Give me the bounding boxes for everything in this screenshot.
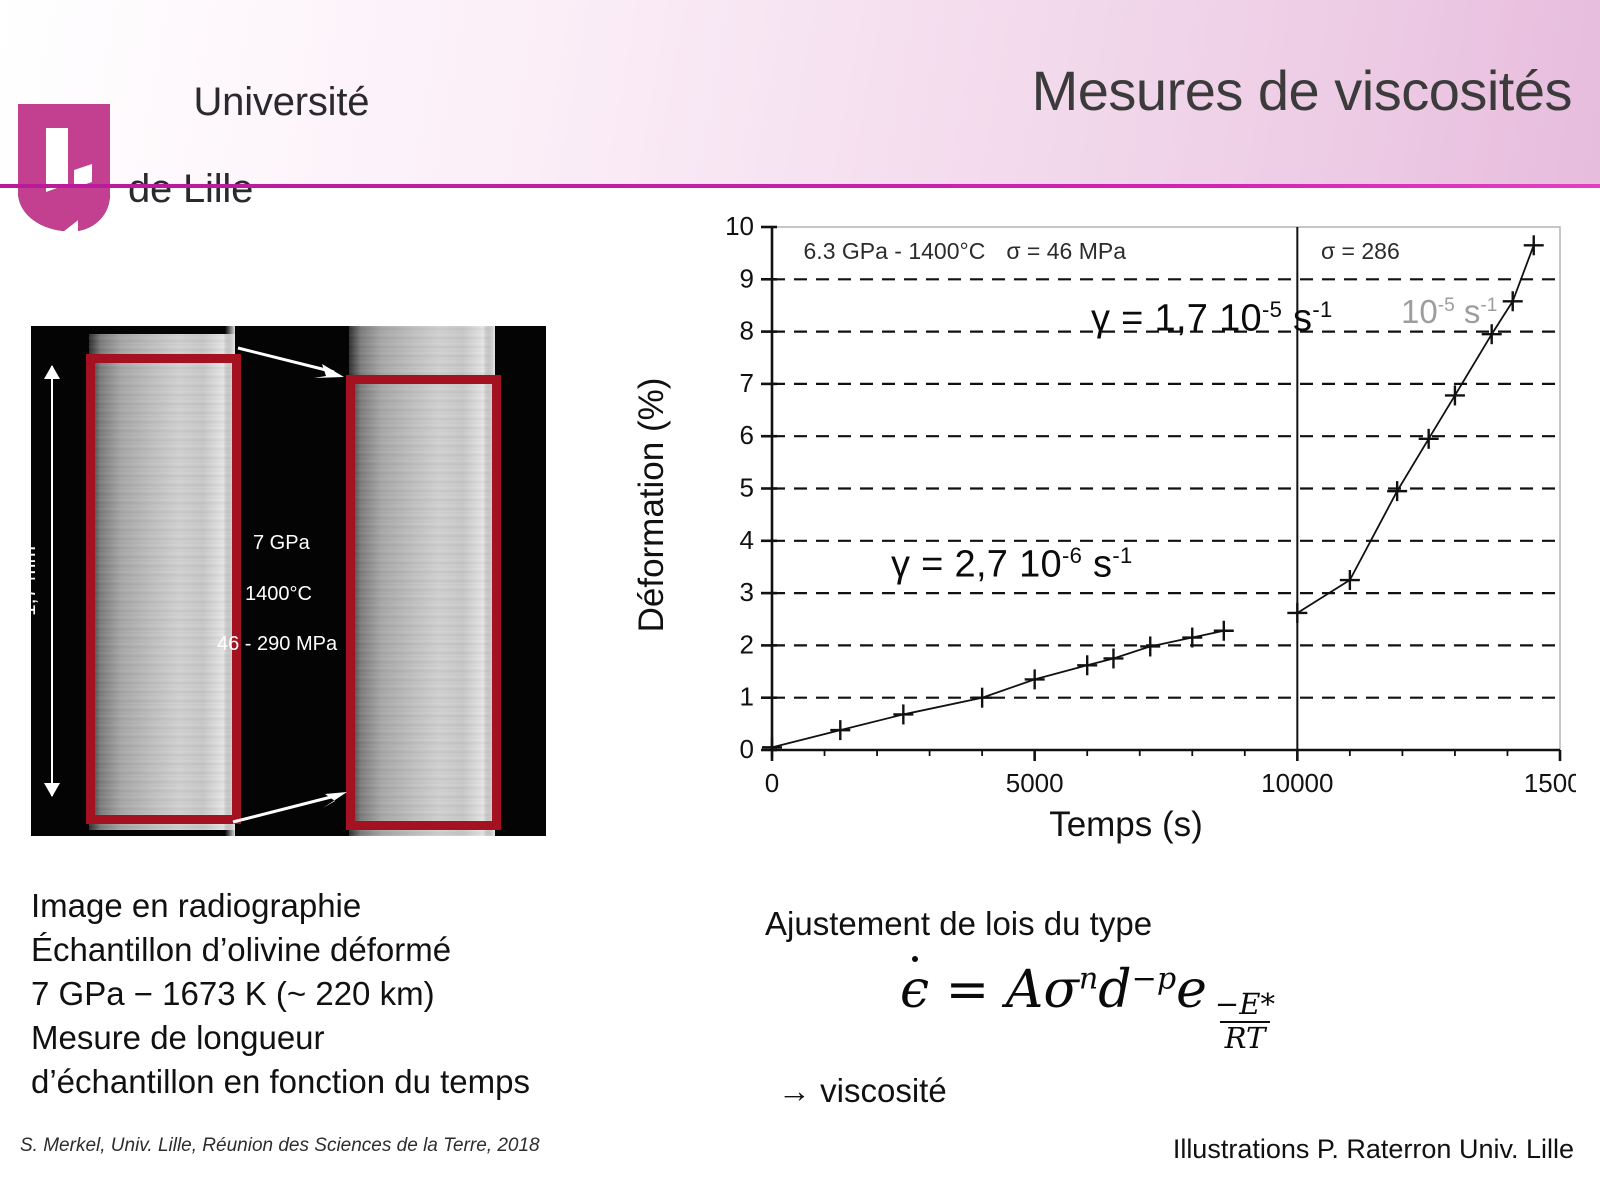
chart-y-axis-label: Déformation (%)	[632, 378, 672, 633]
chart-data-point	[1445, 385, 1465, 405]
chart-x-tick-label: 10000	[1261, 768, 1333, 798]
chart-data-point	[1025, 669, 1045, 689]
radiography-image: 1,7 mm 7 GPa 1400°C 46 - 290 MPa	[31, 326, 546, 836]
chart-x-tick-label: 0	[765, 768, 779, 798]
chart-y-tick-label: 1	[740, 682, 754, 712]
chart-y-tick-label: 5	[740, 473, 754, 503]
chart-x-ticks: 050001000015000	[765, 750, 1576, 798]
scale-bar	[51, 366, 53, 796]
logo-line-2: de Lille	[128, 168, 369, 211]
chart-x-axis-label: Temps (s)	[676, 805, 1576, 845]
chart-data-point	[1077, 655, 1097, 675]
chart-data-point	[1340, 570, 1360, 590]
flow-law-equation: ϵ = Aσnd−pe −E* RT	[900, 960, 1280, 1054]
equation-strain-rate: ϵ	[900, 960, 929, 1020]
footer-attribution-left: S. Merkel, Univ. Lille, Réunion des Scie…	[20, 1135, 540, 1157]
chart-data-point	[762, 737, 782, 757]
chart-x-tick-label: 15000	[1524, 768, 1576, 798]
university-logo-text: Université de Lille	[128, 38, 369, 297]
slide-header: Université de Lille Mesures de viscosité…	[0, 0, 1600, 186]
chart-y-ticks: 012345678910	[725, 211, 777, 764]
roi-box-before	[86, 354, 241, 824]
roi-box-after	[346, 375, 501, 830]
chart-data-point	[1524, 235, 1544, 255]
chart-y-tick-label: 3	[740, 577, 754, 607]
chart-data-point	[893, 704, 913, 724]
chart-y-tick-label: 6	[740, 420, 754, 450]
equation-exponent-n: n	[1079, 962, 1098, 997]
chart-annotation-stress-stage-1: σ = 46 MPa	[1006, 238, 1126, 264]
page-title: Mesures de viscosités	[1032, 58, 1572, 123]
chart-y-tick-label: 9	[740, 263, 754, 293]
header-divider	[0, 184, 1600, 188]
radiography-note-stress: 46 - 290 MPa	[217, 633, 337, 656]
equation-fraction: −E* RT	[1210, 989, 1280, 1054]
annotation-strain-rate-stage-1: γ = 2,7 10-6 s-1	[891, 543, 1133, 587]
viscosity-conclusion: → viscosité	[778, 1072, 947, 1110]
chart-y-tick-label: 2	[740, 629, 754, 659]
equation-grainsize: d	[1098, 960, 1131, 1020]
scale-bar-label: 1,7 mm	[31, 540, 44, 622]
annotation-ghost-label: 10-5 s-1	[1401, 293, 1497, 331]
equation-prefactor: A	[1006, 960, 1044, 1020]
chart-data-point	[972, 688, 992, 708]
chart-data-point	[830, 720, 850, 740]
chart-data-point	[1503, 291, 1523, 311]
equation-equals: =	[946, 960, 990, 1020]
shrink-arrow-top-icon	[236, 344, 346, 380]
scale-arrow-up-icon	[44, 365, 60, 379]
chart-inline-annotations: 6.3 GPa - 1400°Cσ = 46 MPaσ = 286	[804, 238, 1400, 264]
chart-y-tick-label: 7	[740, 368, 754, 398]
equation-exponent-p: −p	[1132, 962, 1177, 997]
chart-data-point	[1103, 648, 1123, 668]
university-lille-shield-logo-icon	[16, 102, 112, 234]
chart-annotation-conditions: 6.3 GPa - 1400°C	[804, 238, 986, 264]
chart-data-point	[1214, 621, 1234, 641]
radiography-note-pressure: 7 GPa	[253, 532, 310, 555]
footer-attribution-right: Illustrations P. Raterron Univ. Lille	[1173, 1134, 1574, 1165]
radiography-note-temperature: 1400°C	[245, 583, 312, 606]
annotation-strain-rate-stage-2: γ = 1,7 10-5 s-1	[1091, 297, 1333, 341]
chart-x-tick-label: 5000	[1006, 768, 1064, 798]
chart-annotation-stress-stage-2: σ = 286	[1321, 238, 1400, 264]
chart-data-point	[1387, 481, 1407, 501]
equation-sigma: σ	[1043, 960, 1079, 1020]
chart-data-point	[1287, 603, 1307, 623]
logo-line-1: Université	[193, 80, 369, 124]
university-logo: Université de Lille	[16, 38, 369, 297]
equation-fraction-numerator: −E*	[1210, 989, 1280, 1020]
shrink-arrow-bottom-icon	[231, 786, 349, 826]
flow-law-title: Ajustement de lois du type	[765, 905, 1152, 943]
chart-y-tick-label: 4	[740, 525, 754, 555]
chart-y-tick-label: 10	[725, 211, 754, 241]
equation-fraction-denominator: RT	[1220, 1021, 1271, 1054]
chart-gridlines	[772, 279, 1560, 697]
equation-exp: e	[1176, 960, 1207, 1020]
chart-data-point	[1140, 636, 1160, 656]
strain-vs-time-chart: Déformation (%) 012345678910 05000100001…	[676, 205, 1576, 805]
chart-data-point	[1419, 429, 1439, 449]
chart-y-tick-label: 8	[740, 316, 754, 346]
chart-y-tick-label: 0	[740, 734, 754, 764]
radiography-caption: Image en radiographie Échantillon d’oliv…	[31, 884, 691, 1104]
scale-arrow-down-icon	[44, 783, 60, 797]
